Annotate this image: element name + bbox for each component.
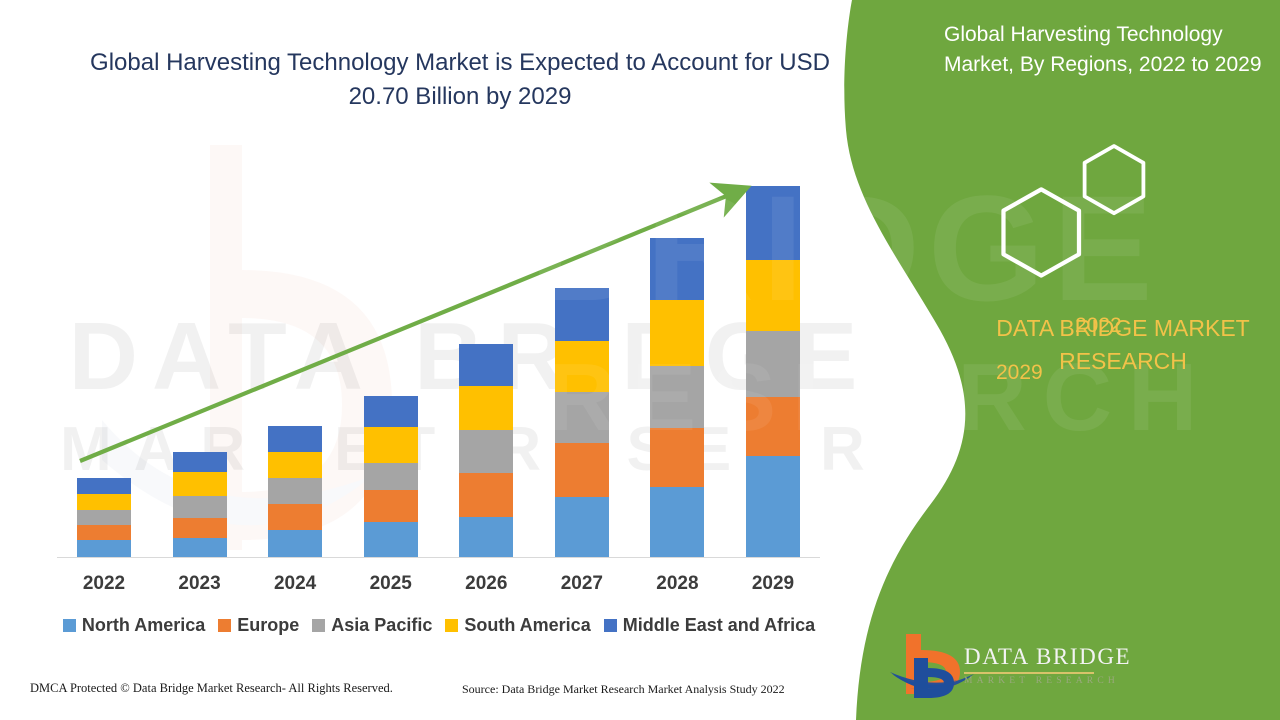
source-note: Source: Data Bridge Market Research Mark… [462,682,785,697]
bar-2023[interactable] [173,452,227,557]
bar-segment [268,530,322,557]
bar-segment [555,497,609,557]
hex-badge-2029: 2029 [996,361,1043,385]
brand-name: DATA BRIDGE MARKET RESEARCH [958,312,1280,379]
chart-legend: North AmericaEuropeAsia PacificSouth Ame… [44,615,834,636]
bar-segment [268,478,322,504]
hex-badge-2022: 2022 [1075,314,1122,338]
bar-segment [555,341,609,392]
legend-item[interactable]: South America [445,615,590,636]
bar-2029[interactable] [746,186,800,557]
bar-2028[interactable] [650,238,704,557]
bar-segment [459,344,513,386]
bar-segment [173,496,227,518]
logo-divider [964,672,1094,674]
bar-segment [459,430,513,473]
bar-segment [746,186,800,260]
panel-title: Global Harvesting Technology Market, By … [944,20,1274,81]
legend-swatch-icon [312,619,325,632]
bar-segment [364,396,418,427]
legend-swatch-icon [445,619,458,632]
legend-item[interactable]: North America [63,615,205,636]
logo-title: DATA BRIDGE [964,644,1131,670]
bar-segment [459,386,513,430]
x-tick-2023: 2023 [173,573,227,595]
bar-segment [364,463,418,490]
x-tick-2027: 2027 [555,573,609,595]
data-bridge-logo-icon [888,628,1118,700]
bar-segment [459,517,513,557]
bar-segment [364,427,418,463]
bar-segment [650,238,704,300]
dmca-notice: DMCA Protected © Data Bridge Market Rese… [30,681,393,696]
logo-subtitle: MARKET RESEARCH [964,676,1131,686]
hexagon-badges: 2022 2029 [975,140,1175,285]
x-tick-2028: 2028 [650,573,704,595]
bar-segment [173,452,227,472]
bar-segment [746,397,800,456]
legend-item[interactable]: Middle East and Africa [604,615,815,636]
bar-segment [268,452,322,478]
footer: DMCA Protected © Data Bridge Market Rese… [0,681,880,713]
legend-label: Middle East and Africa [623,615,815,636]
x-tick-2024: 2024 [268,573,322,595]
bar-segment [746,260,800,331]
bar-segment [268,504,322,530]
bar-segment [555,443,609,497]
bar-2026[interactable] [459,344,513,557]
bar-segment [650,300,704,366]
bar-segment [77,494,131,510]
bar-segment [268,426,322,452]
bar-segment [173,538,227,557]
bar-segment [173,518,227,538]
legend-swatch-icon [63,619,76,632]
bar-segment [650,366,704,428]
logo-wordmark: DATA BRIDGE MARKET RESEARCH [964,644,1131,686]
x-tick-2025: 2025 [364,573,418,595]
bar-segment [459,473,513,516]
legend-swatch-icon [218,619,231,632]
bar-segment [364,490,418,522]
bar-segment [364,522,418,557]
bar-segment [77,478,131,494]
x-tick-2026: 2026 [459,573,513,595]
legend-label: Asia Pacific [331,615,432,636]
bar-segment [650,487,704,557]
bar-segment [77,510,131,525]
bar-segment [555,288,609,341]
bar-2022[interactable] [77,478,131,557]
bar-segment [77,525,131,540]
plot-area: 20222023202420252026202720282029 [0,0,880,720]
bar-segment [746,456,800,557]
bar-segment [746,331,800,397]
hexagon-outline-icon [975,140,1175,285]
legend-item[interactable]: Europe [218,615,299,636]
bar-segment [650,428,704,487]
x-axis-line [57,557,820,558]
bar-segment [555,392,609,443]
legend-label: South America [464,615,590,636]
x-tick-2022: 2022 [77,573,131,595]
x-tick-2029: 2029 [746,573,800,595]
legend-label: North America [82,615,205,636]
chart-panel: DATA BRIDGE MARKET RESEARCH Global Harve… [0,0,880,720]
legend-item[interactable]: Asia Pacific [312,615,432,636]
bar-segment [173,472,227,496]
legend-swatch-icon [604,619,617,632]
bar-segment [77,540,131,557]
bar-2025[interactable] [364,396,418,557]
legend-label: Europe [237,615,299,636]
bar-2024[interactable] [268,426,322,558]
bar-2027[interactable] [555,288,609,557]
